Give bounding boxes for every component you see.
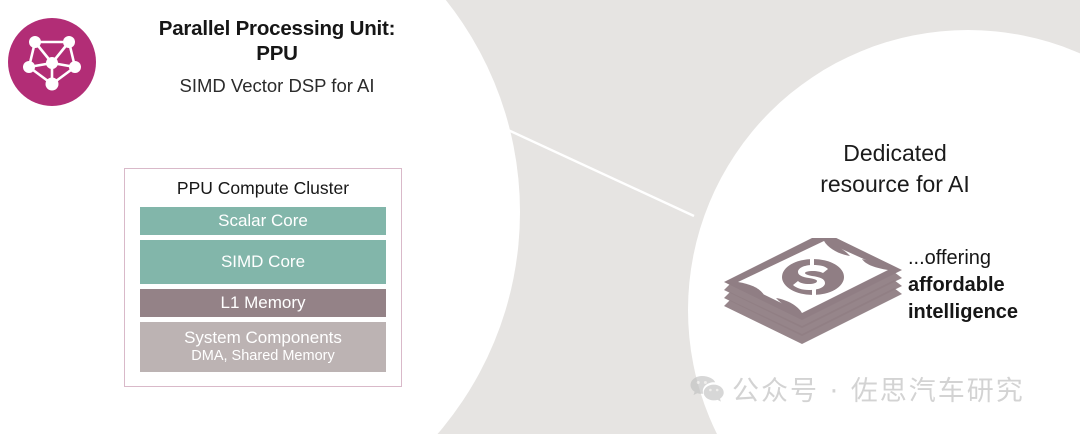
- block-simd-core: SIMD Core: [140, 240, 386, 284]
- slide-canvas: Parallel Processing Unit: PPU SIMD Vecto…: [0, 0, 1080, 434]
- network-graph-icon: [8, 18, 96, 106]
- left-panel: Parallel Processing Unit: PPU SIMD Vecto…: [0, 0, 470, 434]
- brand-text: Parallel Processing Unit: PPU SIMD Vecto…: [96, 16, 448, 97]
- block-scalar-core-label: Scalar Core: [218, 211, 308, 231]
- product-subtitle: SIMD Vector DSP for AI: [106, 75, 448, 97]
- block-l1-memory: L1 Memory: [140, 289, 386, 317]
- block-l1-memory-label: L1 Memory: [220, 293, 305, 313]
- watermark: 公众号 · 佐思汽车研究: [690, 369, 1025, 408]
- block-simd-core-label: SIMD Core: [221, 252, 305, 272]
- ppu-compute-cluster-card: PPU Compute Cluster Scalar Core SIMD Cor…: [124, 168, 402, 387]
- block-system-components-label: System Components: [184, 328, 342, 348]
- cash-stack-icon: [718, 238, 908, 350]
- right-heading: Dedicated resource for AI: [760, 138, 1030, 199]
- watermark-text: 公众号 · 佐思汽车研究: [732, 369, 1025, 408]
- wechat-icon: [690, 374, 724, 404]
- product-title: Parallel Processing Unit: PPU: [106, 16, 448, 66]
- offer-line-2: affordable: [908, 272, 1073, 299]
- offer-line-3: intelligence: [908, 299, 1073, 326]
- offer-line-1: ...offering: [908, 245, 1073, 272]
- block-scalar-core: Scalar Core: [140, 207, 386, 235]
- offer-text: ...offering affordable intelligence: [908, 245, 1073, 327]
- cluster-title: PPU Compute Cluster: [140, 177, 386, 207]
- block-system-components-sublabel: DMA, Shared Memory: [191, 348, 334, 365]
- block-system-components: System Components DMA, Shared Memory: [140, 322, 386, 372]
- brand-row: Parallel Processing Unit: PPU SIMD Vecto…: [8, 16, 448, 106]
